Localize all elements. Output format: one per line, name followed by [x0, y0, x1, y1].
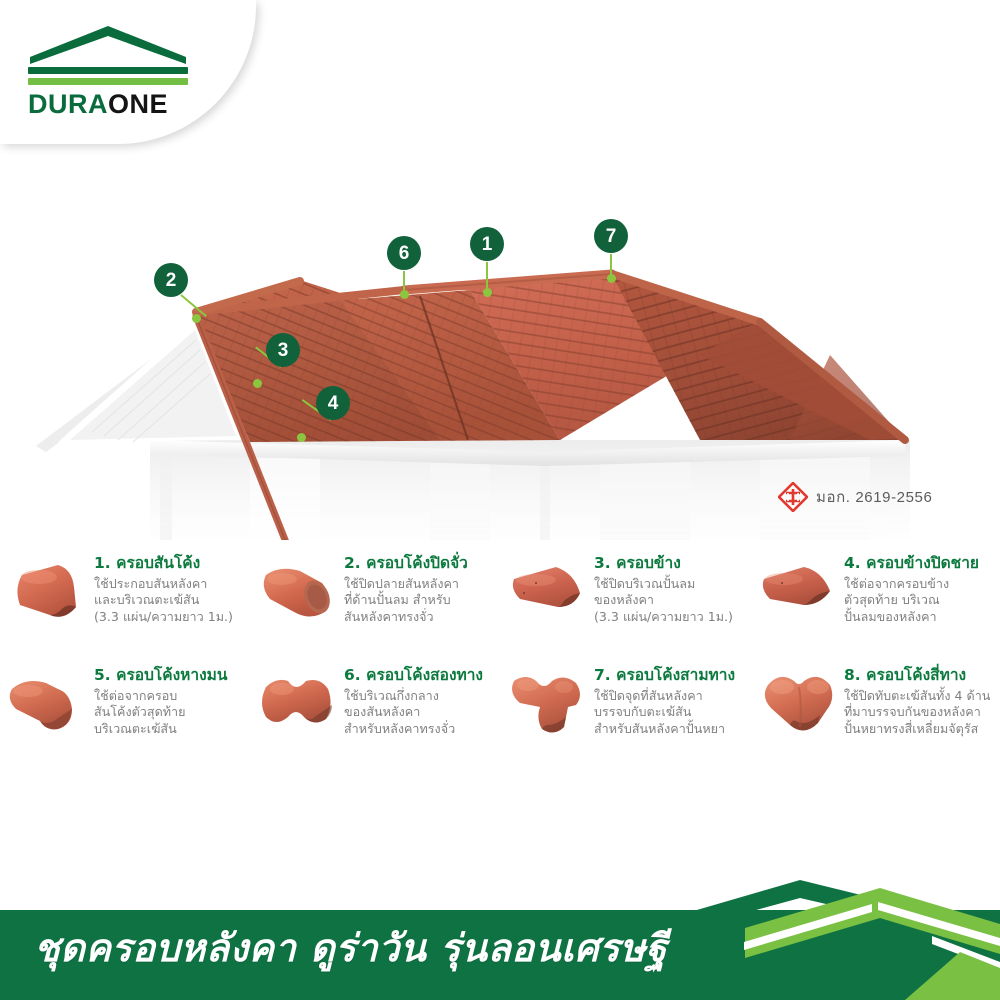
round-tail-curve-cap-tile-icon [6, 665, 92, 749]
product-title: 8. ครอบโค้งสี่ทาง [844, 667, 990, 685]
three-way-curve-cap-tile-icon [506, 665, 592, 749]
certification-label: มอก. 2619-2556 [816, 485, 932, 509]
house-roof-3d-render [0, 140, 1000, 540]
leader-dot-4 [297, 433, 306, 442]
logo-bar-light [28, 78, 188, 85]
roof-marker-3[interactable]: 3 [266, 333, 300, 367]
product-title: 5. ครอบโค้งหางมน [94, 667, 227, 685]
roof-marker-6[interactable]: 6 [387, 236, 421, 270]
product-title: 2. ครอบโค้งปิดจั่ว [344, 555, 468, 573]
tis-standard-icon [778, 482, 808, 512]
product-item-7[interactable]: 7. ครอบโค้งสามทาง ใช้ปิดจุดที่สันหลังคา … [500, 657, 750, 769]
bottom-banner: ชุดครอบหลังคา ดูร่าวัน รุ่นลอนเศรษฐี [0, 880, 1000, 1000]
leader-dot-2 [192, 314, 201, 323]
product-description: ใช้บริเวณกึ่งกลาง ของสันหลังคา สำหรับหลั… [344, 688, 483, 738]
certification-mark: มอก. 2619-2556 [778, 482, 932, 512]
leader-dot-3 [253, 379, 262, 388]
roof-marker-1[interactable]: 1 [470, 227, 504, 261]
logo-word-one: ONE [108, 89, 168, 119]
banner-headline: ชุดครอบหลังคา ดูร่าวัน รุ่นลอนเศรษฐี [34, 917, 667, 978]
product-description: ใช้ต่อจากครอบข้าง ตัวสุดท้าย บริเวณ ปั้น… [844, 576, 979, 626]
product-item-3[interactable]: 3. ครอบข้าง ใช้ปิดบริเวณปั้นลม ของหลังคา… [500, 545, 750, 657]
product-grid: 1. ครอบสันโค้ง ใช้ประกอบสันหลังคา และบริ… [0, 545, 1000, 795]
product-title: 6. ครอบโค้งสองทาง [344, 667, 483, 685]
product-title: 4. ครอบข้างปิดชาย [844, 555, 979, 573]
brand-logo-card: DURAONE [0, 0, 256, 144]
product-description: ใช้ปิดจุดที่สันหลังคา บรรจบกับตะเฆ้สัน ส… [594, 688, 735, 738]
roof-marker-7[interactable]: 7 [594, 219, 628, 253]
product-item-4[interactable]: 4. ครอบข้างปิดชาย ใช้ต่อจากครอบข้าง ตัวส… [750, 545, 1000, 657]
hero-illustration [0, 140, 1000, 540]
product-description: ใช้ปิดบริเวณปั้นลม ของหลังคา (3.3 แผ่น/ค… [594, 576, 733, 626]
product-item-1[interactable]: 1. ครอบสันโค้ง ใช้ประกอบสันหลังคา และบริ… [0, 545, 250, 657]
gable-end-curve-cap-tile-icon [256, 553, 342, 637]
product-item-2[interactable]: 2. ครอบโค้งปิดจั่ว ใช้ปิดปลายสันหลังคา ท… [250, 545, 500, 657]
side-cap-tile-icon [506, 553, 592, 637]
product-title: 3. ครอบข้าง [594, 555, 733, 573]
leader-dot-1 [483, 288, 492, 297]
product-description: ใช้ต่อจากครอบ สันโค้งตัวสุดท้าย บริเวณตะ… [94, 688, 227, 738]
product-title: 7. ครอบโค้งสามทาง [594, 667, 735, 685]
four-way-curve-cap-tile-icon [756, 665, 842, 749]
product-title: 1. ครอบสันโค้ง [94, 555, 233, 573]
product-description: ใช้ปิดปลายสันหลังคา ที่ด้านปั้นลม สำหรับ… [344, 576, 468, 626]
roof-chevron-logo-icon [28, 24, 188, 64]
product-item-5[interactable]: 5. ครอบโค้งหางมน ใช้ต่อจากครอบ สันโค้งตั… [0, 657, 250, 769]
roof-marker-2[interactable]: 2 [154, 263, 188, 297]
brand-logo: DURAONE [28, 24, 188, 118]
two-way-curve-cap-tile-icon [256, 665, 342, 749]
logo-bar-dark [28, 67, 188, 74]
ridge-curve-cap-tile-icon [6, 553, 92, 637]
side-end-cap-tile-icon [756, 553, 842, 637]
product-description: ใช้ปิดทับตะเฆ้สันทั้ง 4 ด้าน ที่มาบรรจบก… [844, 688, 990, 738]
logo-word-dura: DURA [28, 89, 108, 119]
roof-marker-4[interactable]: 4 [316, 386, 350, 420]
leader-dot-6 [400, 290, 409, 299]
product-item-6[interactable]: 6. ครอบโค้งสองทาง ใช้บริเวณกึ่งกลาง ของส… [250, 657, 500, 769]
leader-dot-7 [607, 274, 616, 283]
product-item-8[interactable]: 8. ครอบโค้งสี่ทาง ใช้ปิดทับตะเฆ้สันทั้ง … [750, 657, 1000, 769]
logo-wordmark: DURAONE [28, 91, 188, 118]
product-description: ใช้ประกอบสันหลังคา และบริเวณตะเฆ้สัน (3.… [94, 576, 233, 626]
